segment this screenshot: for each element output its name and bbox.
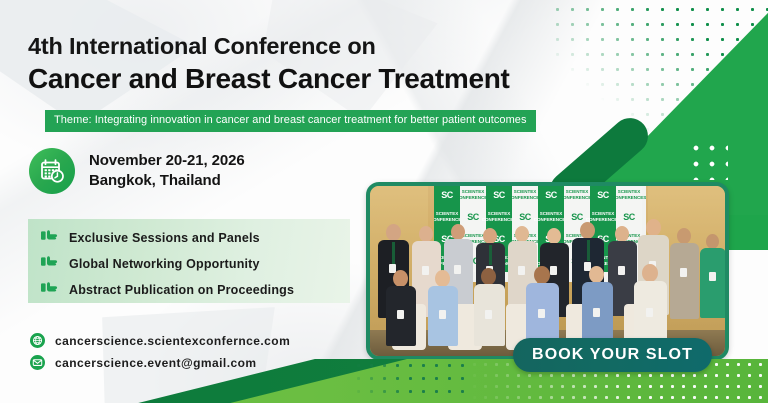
list-item-label: Global Networking Opportunity <box>69 257 260 271</box>
calendar-clock-icon <box>29 148 75 194</box>
book-your-slot-button[interactable]: BOOK YOUR SLOT <box>513 338 712 372</box>
band-left-dots <box>352 359 472 403</box>
pointing-hand-icon <box>41 254 60 274</box>
book-your-slot-label: BOOK YOUR SLOT <box>532 346 693 364</box>
title-line-2: Cancer and Breast Cancer Treatment <box>28 62 510 96</box>
white-dot-grid-decoration <box>688 140 728 180</box>
title-line-1: 4th International Conference on <box>28 33 510 61</box>
event-location: Bangkok, Thailand <box>89 171 245 191</box>
globe-icon <box>30 333 45 348</box>
pointing-hand-icon <box>41 228 60 248</box>
list-item: Exclusive Sessions and Panels <box>41 228 350 248</box>
website-link[interactable]: cancerscience.scientexconfernce.com <box>30 333 290 348</box>
pointing-hand-icon <box>41 280 60 300</box>
conference-banner: 4th International Conference on Cancer a… <box>0 0 768 403</box>
page-title: 4th International Conference on Cancer a… <box>28 33 510 95</box>
theme-banner: Theme: Integrating innovation in cancer … <box>45 110 536 132</box>
list-item: Abstract Publication on Proceedings <box>41 280 350 300</box>
website-value: cancerscience.scientexconfernce.com <box>55 334 290 348</box>
conference-group-photo: SC SCIENTEXCONFERENCES SC SCIENTEXCONFER… <box>366 182 729 360</box>
list-item-label: Abstract Publication on Proceedings <box>69 283 294 297</box>
list-item-label: Exclusive Sessions and Panels <box>69 231 260 245</box>
list-item: Global Networking Opportunity <box>41 254 350 274</box>
event-details: November 20-21, 2026 Bangkok, Thailand <box>29 148 245 194</box>
event-date: November 20-21, 2026 <box>89 151 245 171</box>
highlights-panel: Exclusive Sessions and Panels Global Net… <box>28 219 350 303</box>
